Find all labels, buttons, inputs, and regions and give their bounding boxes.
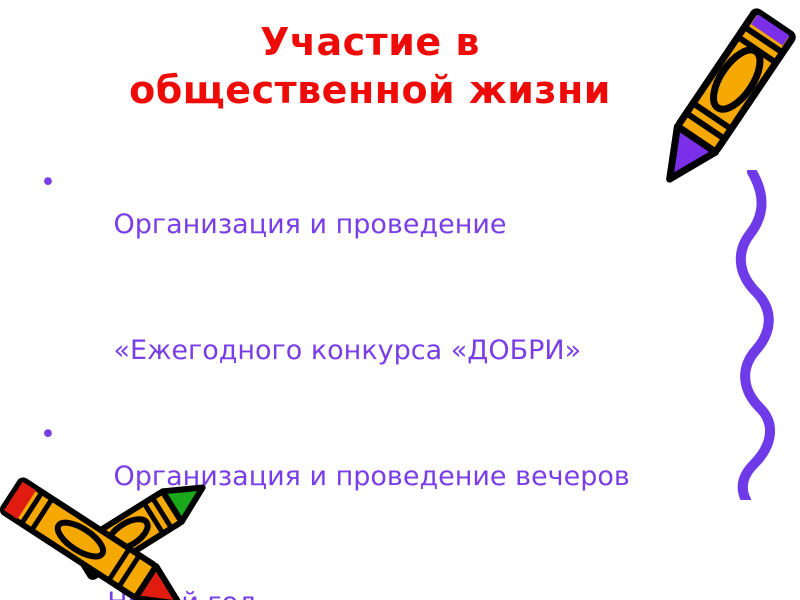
bullet-marker: • — [40, 414, 56, 456]
list-item-text: Организация и проведение — [114, 209, 507, 240]
list-item-continuation: «Ежегодного конкурса «ДОБРИ» — [28, 288, 728, 414]
list-item: -Новый год — [28, 540, 728, 600]
list-item-text: «Ежегодного конкурса «ДОБРИ» — [114, 335, 582, 366]
slide-body-list: •Организация и проведение «Ежегодного ко… — [28, 162, 728, 600]
slide-title: Участие в общественной жизни — [60, 18, 680, 114]
presentation-slide: Участие в общественной жизни •Организаци… — [0, 0, 800, 600]
dash-marker: - — [88, 582, 98, 600]
list-item: •Организация и проведение — [28, 162, 728, 288]
list-item-text: Новый год — [107, 587, 257, 600]
list-item: •Организация и проведение вечеров — [28, 414, 728, 540]
list-item-text: Организация и проведение вечеров — [114, 461, 630, 492]
bullet-marker: • — [40, 162, 56, 204]
